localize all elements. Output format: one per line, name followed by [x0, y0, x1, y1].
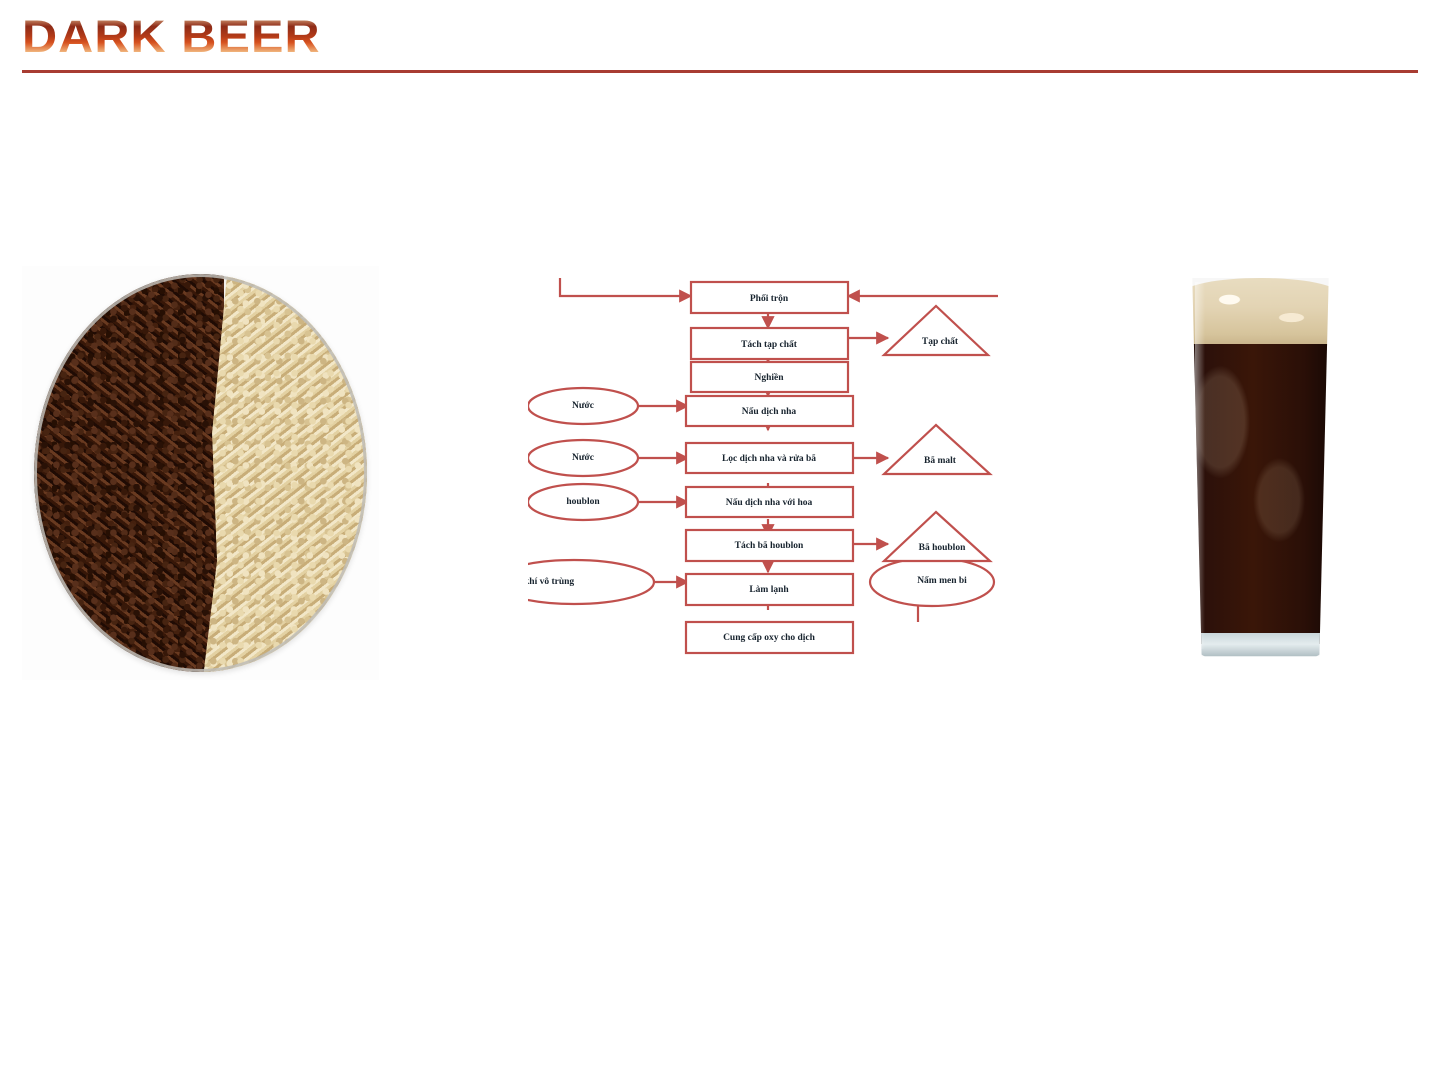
process-box-loc-dich-nha[interactable]: Lọc dịch nha và rửa bã: [686, 443, 853, 473]
beer-foam-head: [1183, 278, 1338, 350]
process-box-phoi-tron[interactable]: Phối trộn: [691, 282, 848, 313]
malt-dish: [34, 274, 367, 672]
beer-process-flowchart: Phối trộn Tách tạp chất Nghiền Nấu dịch …: [528, 262, 998, 687]
process-box-nau-dich-nha[interactable]: Nấu dịch nha: [686, 396, 853, 426]
output-triangle-ba-malt[interactable]: Bã malt: [884, 425, 990, 474]
malt-grains-photo: [22, 266, 379, 680]
process-box-lam-lanh[interactable]: Làm lạnh: [686, 574, 853, 605]
process-label: Nghiền: [754, 372, 784, 383]
header-divider: [22, 70, 1418, 73]
process-label: Nấu dịch nha: [742, 406, 797, 417]
beer-liquid: [1183, 344, 1338, 644]
process-label: Tách bã houblon: [735, 541, 804, 551]
process-box-nghien[interactable]: Nghiền: [691, 362, 848, 392]
input-ellipse-nuoc-2[interactable]: Nước: [528, 440, 638, 476]
process-label: Làm lạnh: [749, 585, 789, 595]
page-title: DARK BEER: [22, 14, 321, 60]
output-triangle-tap-chat[interactable]: Tạp chất: [884, 306, 988, 355]
input-label: khí vô trùng: [528, 577, 574, 587]
input-label: Nước: [572, 453, 594, 463]
input-ellipse-khi-vo-trung[interactable]: khí vô trùng: [528, 560, 654, 604]
beer-glass: [1183, 278, 1338, 668]
dark-beer-glass-photo: [1155, 270, 1365, 680]
input-ellipse-nam-men[interactable]: Nấm men bi: [870, 558, 994, 606]
process-box-cung-cap-oxy[interactable]: Cung cấp oxy cho dịch: [686, 622, 853, 653]
input-label: Nấm men bi: [917, 575, 967, 586]
output-label: Tạp chất: [922, 336, 959, 347]
process-label: Nấu dịch nha với hoa: [726, 497, 813, 508]
input-ellipse-nuoc-1[interactable]: Nước: [528, 388, 638, 424]
process-label: Cung cấp oxy cho dịch: [723, 632, 816, 643]
input-label: Nước: [572, 401, 594, 411]
output-label: Bã malt: [924, 456, 957, 466]
output-label: Bã houblon: [919, 543, 966, 553]
pale-malt-region: [201, 274, 368, 672]
process-label: Tách tạp chất: [741, 339, 798, 350]
slide-header: DARK BEER DARK BEER: [0, 0, 1441, 80]
input-ellipse-houblon[interactable]: houblon: [528, 484, 638, 520]
feedback-line-left: [560, 278, 691, 296]
glass-base: [1195, 633, 1325, 665]
output-triangle-ba-houblon[interactable]: Bã houblon: [884, 512, 990, 561]
dark-malt-region: [34, 274, 224, 672]
process-box-tach-tap-chat[interactable]: Tách tạp chất: [691, 328, 848, 359]
process-label: Phối trộn: [750, 293, 789, 304]
process-label: Lọc dịch nha và rửa bã: [722, 454, 816, 464]
process-box-nau-voi-hoa[interactable]: Nấu dịch nha với hoa: [686, 487, 853, 517]
input-label: houblon: [566, 497, 600, 507]
process-box-tach-ba-houblon[interactable]: Tách bã houblon: [686, 530, 853, 561]
